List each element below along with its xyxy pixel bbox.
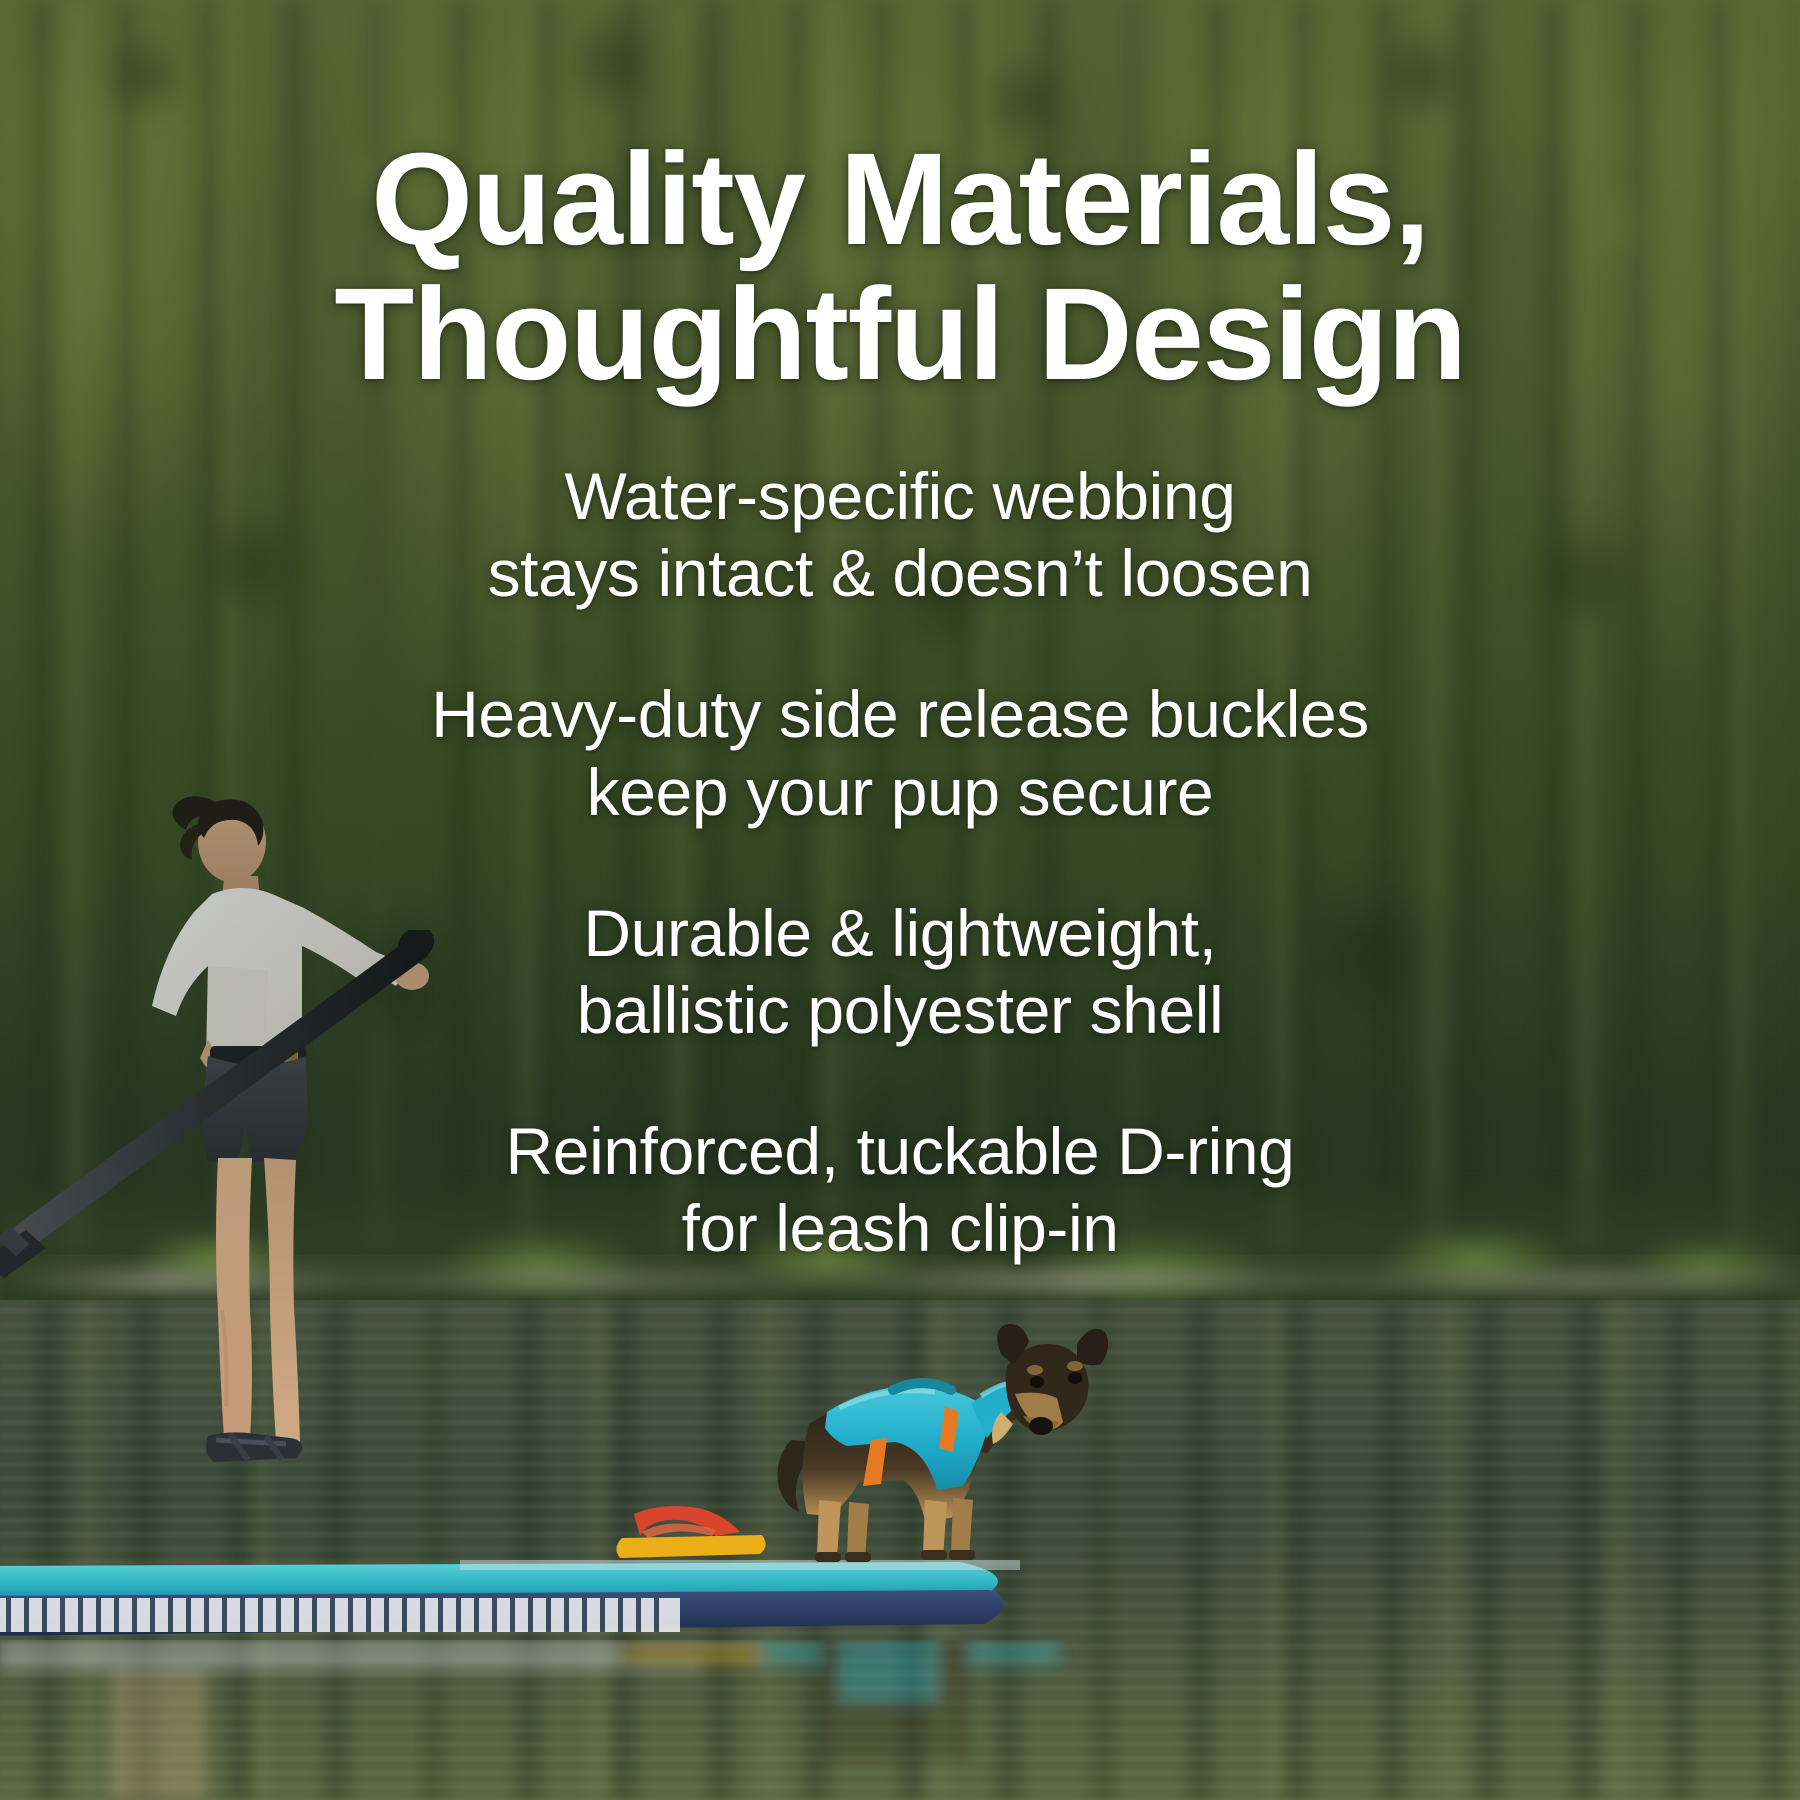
feature-shell-line-2: ballistic polyester shell (0, 972, 1800, 1049)
feature-buckles-line-2: keep your pup secure (0, 754, 1800, 831)
feature-dring-line-2: for leash clip-in (0, 1190, 1800, 1267)
lifestyle-feature-poster: Quality Materials, Thoughtful Design Wat… (0, 0, 1800, 1800)
feature-webbing-line-1: Water-specific webbing (0, 458, 1800, 535)
feature-shell-line-1: Durable & lightweight, (0, 895, 1800, 972)
headline-line-1: Quality Materials, (0, 132, 1800, 267)
feature-item-webbing: Water-specific webbing stays intact & do… (0, 458, 1800, 612)
feature-item-d-ring: Reinforced, tuckable D-ring for leash cl… (0, 1113, 1800, 1267)
feature-webbing-line-2: stays intact & doesn’t loosen (0, 535, 1800, 612)
feature-item-shell: Durable & lightweight, ballistic polyest… (0, 895, 1800, 1049)
feature-dring-line-1: Reinforced, tuckable D-ring (0, 1113, 1800, 1190)
marketing-copy: Quality Materials, Thoughtful Design Wat… (0, 0, 1800, 1268)
feature-list: Water-specific webbing stays intact & do… (0, 458, 1800, 1268)
feature-item-buckles: Heavy-duty side release buckles keep you… (0, 676, 1800, 830)
feature-buckles-line-1: Heavy-duty side release buckles (0, 676, 1800, 753)
headline-line-2: Thoughtful Design (0, 267, 1800, 402)
page-title: Quality Materials, Thoughtful Design (0, 0, 1800, 402)
